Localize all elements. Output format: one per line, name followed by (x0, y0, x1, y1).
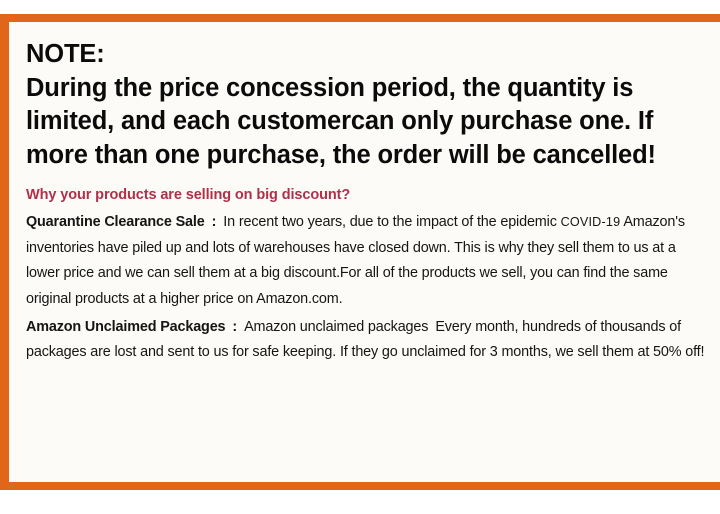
unclaimed-packages-term: Amazon Unclaimed Packages (26, 319, 225, 335)
unclaimed-packages-colon: : (232, 319, 237, 335)
quarantine-clearance-colon: : (212, 214, 217, 230)
quarantine-clearance-term: Quarantine Clearance Sale (26, 214, 205, 230)
headline-note-label: NOTE: (26, 40, 105, 68)
unclaimed-packages-paragraph: Amazon Unclaimed Packages:Amazon unclaim… (26, 315, 709, 366)
unclaimed-text-part-one: Amazon unclaimed packages (244, 319, 428, 335)
notice-headline: NOTE:During the price concession period,… (26, 38, 702, 172)
notice-panel: NOTE:During the price concession period,… (9, 22, 720, 482)
quarantine-clearance-paragraph: Quarantine Clearance Sale:In recent two … (26, 210, 709, 313)
covid-19-label: COVID-19 (561, 215, 621, 229)
quarantine-text-part-one: In recent two years, due to the impact o… (223, 214, 560, 230)
discount-question-heading: Why your products are selling on big dis… (26, 187, 720, 203)
headline-body-text: During the price concession period, the … (26, 74, 656, 169)
orange-notice-frame: NOTE:During the price concession period,… (0, 14, 720, 490)
